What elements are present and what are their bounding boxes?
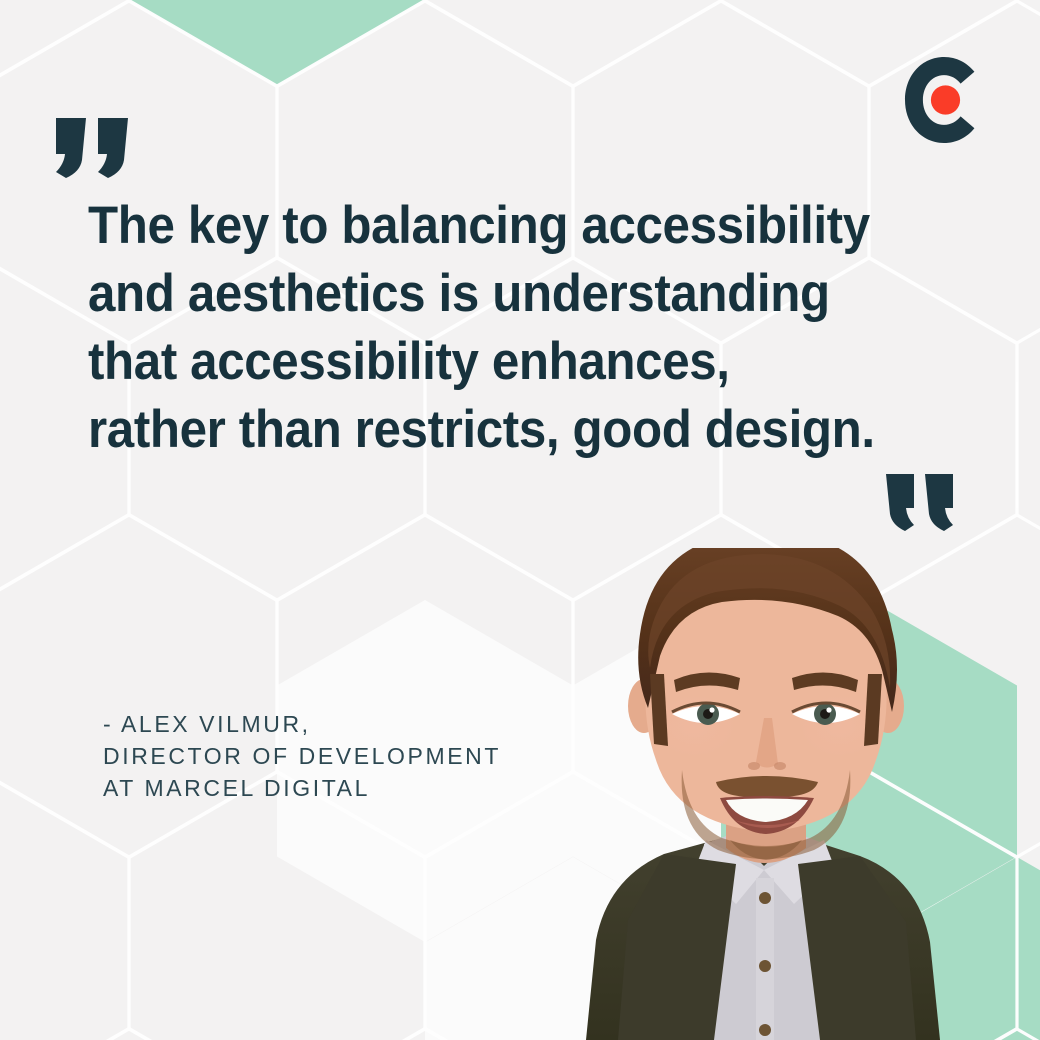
- crownpeak-c-logo[interactable]: [898, 54, 990, 146]
- shirt-button: [759, 1024, 771, 1036]
- closing-quote-mark-icon: [886, 474, 958, 532]
- shirt-button: [759, 892, 771, 904]
- portrait-mustache: [716, 776, 818, 797]
- quote-attribution: - ALEX VILMUR, DIRECTOR OF DEVELOPMENT A…: [103, 708, 501, 804]
- logo-accent-dot: [931, 85, 960, 114]
- portrait-photo: [468, 548, 1040, 1040]
- portrait-torso: [586, 834, 940, 1040]
- quote-card: The key to balancing accessibility and a…: [0, 0, 1040, 1040]
- shirt-button: [759, 960, 771, 972]
- opening-quote-mark-icon: [56, 118, 134, 180]
- quote-text: The key to balancing accessibility and a…: [88, 192, 879, 464]
